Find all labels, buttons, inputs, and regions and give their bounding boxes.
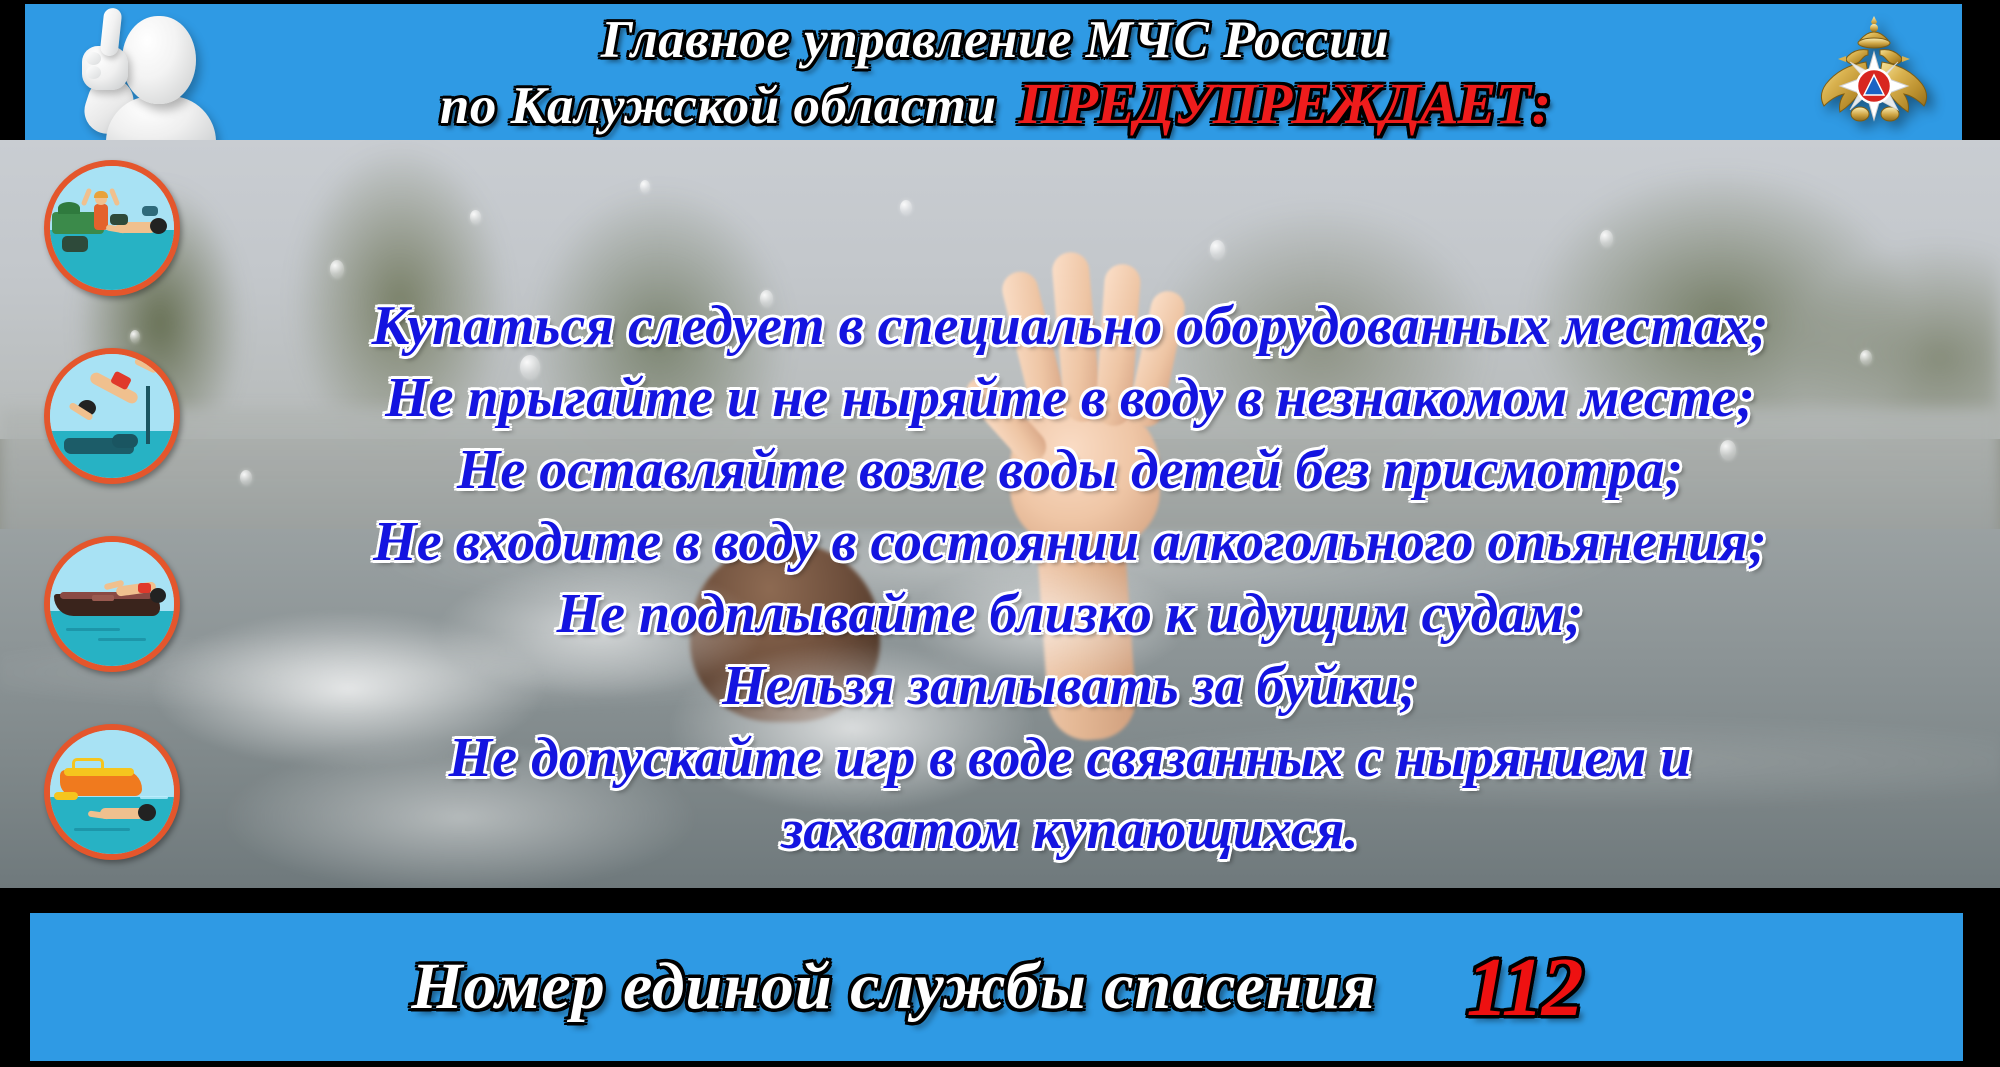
icon-swimmer-trunks [138, 583, 151, 593]
icon-wave [74, 828, 130, 831]
icon-float-2 [110, 214, 128, 225]
rule-line: Не входите в воду в состоянии алкогольно… [190, 506, 1950, 578]
icon-float-3 [142, 206, 158, 216]
rule-line: Купаться следует в специально оборудован… [190, 290, 1950, 362]
icon-swimmer-head [138, 804, 156, 821]
icon-motorboat-wake [54, 792, 78, 800]
water-droplet [1600, 230, 1613, 247]
safety-rules-list: Купаться следует в специально оборудован… [190, 290, 1950, 866]
icon-child-hair [94, 191, 108, 198]
header-region-label: по Калужской области [440, 74, 997, 138]
icon-motorboat-windshield [72, 758, 104, 773]
water-droplet [1210, 240, 1225, 259]
emergency-service-label: Номер единой службы спасения [411, 949, 1376, 1025]
water-droplet [640, 180, 650, 193]
mascot-head [122, 16, 196, 104]
icon-rock-2 [112, 434, 138, 448]
icon-rowboat-seat [92, 595, 114, 601]
mascot-knuckle [86, 52, 101, 65]
icon-wave [66, 628, 120, 631]
safety-icons-column [44, 160, 180, 860]
icon-float-1 [62, 236, 88, 252]
safety-icon-no-swimming-near-boats[interactable] [44, 536, 180, 672]
rule-line: Не оставляйте возле воды детей без присм… [190, 434, 1950, 506]
header-banner: Главное управление МЧС России по Калужск… [25, 4, 1962, 140]
rule-line: Нельзя заплывать за буйки; [190, 650, 1950, 722]
pointing-finger-figure-icon [60, 4, 210, 140]
icon-water [50, 797, 174, 854]
icon-wave [98, 638, 146, 641]
icon-reed [58, 202, 80, 214]
background-photo-drowning-person: Купаться следует в специально оборудован… [0, 140, 2000, 888]
icon-wave [140, 796, 168, 799]
header-warning-label: ПРЕДУПРЕЖДАЕТ: [1019, 72, 1551, 136]
rule-line: захватом купающихся. [190, 794, 1950, 866]
safety-icon-no-diving-unknown-place[interactable] [44, 348, 180, 484]
water-droplet [900, 200, 912, 215]
header-title-line1: Главное управление МЧС России [601, 8, 1389, 72]
safety-icon-swim-in-designated-areas[interactable] [44, 160, 180, 296]
header-title-block: Главное управление МЧС России по Калужск… [195, 6, 1795, 140]
rule-line: Не подплывайте близко к идущим судам; [190, 578, 1950, 650]
header-title-line2: по Калужской области ПРЕДУПРЕЖДАЕТ: [440, 72, 1550, 138]
mchs-double-headed-eagle-emblem-icon [1810, 10, 1938, 136]
icon-post [146, 386, 150, 444]
footer-banner: Номер единой службы спасения 112 [30, 913, 1963, 1061]
rule-line: Не допускайте игр в воде связанных с ныр… [190, 722, 1950, 794]
mascot-knuckle [86, 66, 101, 79]
water-droplet [470, 210, 481, 224]
icon-swimmer-head [150, 588, 166, 603]
emergency-phone-number[interactable]: 112 [1466, 939, 1581, 1036]
safety-icon-no-swimming-near-motorboat[interactable] [44, 724, 180, 860]
rule-line: Не прыгайте и не ныряйте в воду в незнак… [190, 362, 1950, 434]
water-droplet [330, 260, 344, 278]
safety-poster: Купаться следует в специально оборудован… [0, 0, 2000, 1067]
icon-swimmer-head [150, 218, 167, 234]
